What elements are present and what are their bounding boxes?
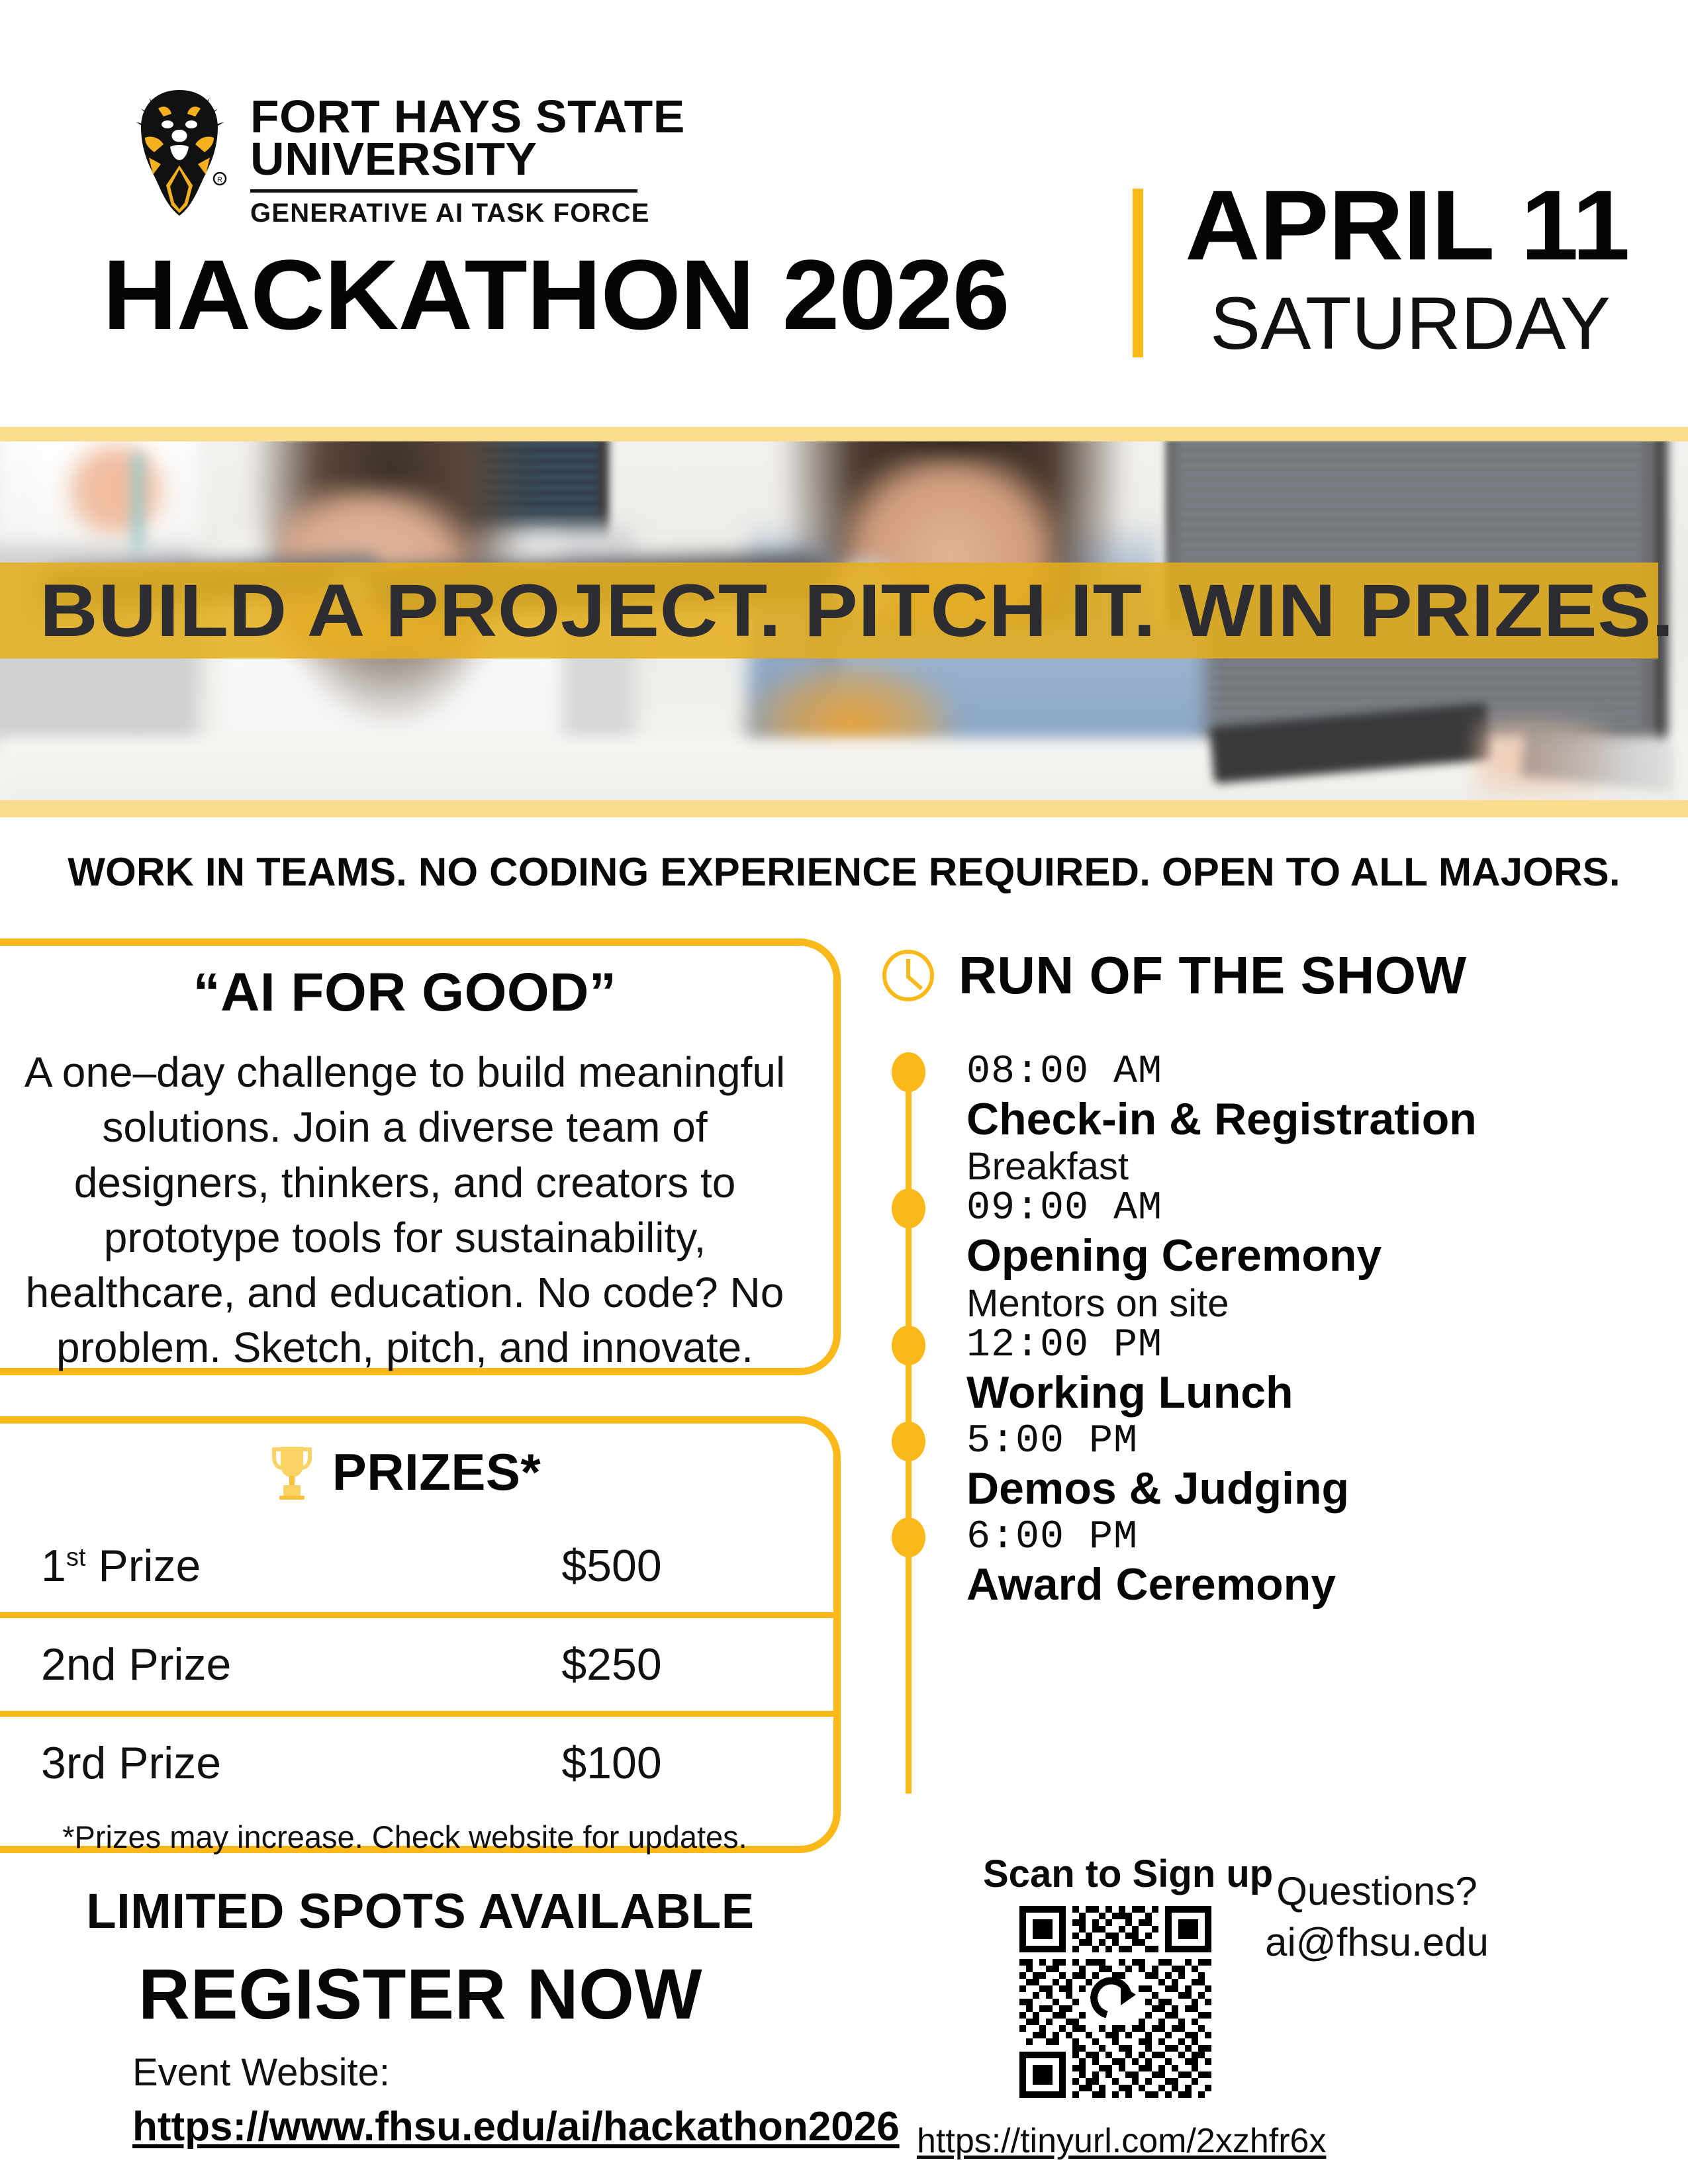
schedule-item-time: 08:00 AM <box>966 1052 1675 1093</box>
schedule-item-time: 6:00 PM <box>966 1518 1675 1558</box>
schedule-item: 09:00 AMOpening CeremonyMentors on site <box>880 1189 1675 1325</box>
timeline-dot <box>892 1518 925 1557</box>
timeline-dot <box>892 1326 925 1365</box>
trophy-icon <box>269 1444 315 1501</box>
prize-label: 3rd Prize <box>41 1737 502 1789</box>
schedule-item-title: Award Ceremony <box>966 1559 1675 1610</box>
page-title: HACKATHON 2026 <box>103 245 1009 344</box>
schedule-title: RUN OF THE SHOW <box>959 945 1466 1006</box>
event-date-block: APRIL 11 SATURDAY <box>1185 175 1609 361</box>
tagline-text: BUILD A PROJECT. PITCH IT. WIN PRIZES. <box>40 569 1688 652</box>
timeline-dot <box>892 1189 925 1228</box>
timeline-dot <box>892 1422 925 1461</box>
prizes-footnote: *Prizes may increase. Check website for … <box>0 1819 833 1855</box>
prizes-title: PRIZES* <box>332 1442 541 1502</box>
prize-row: 1st Prize$500 <box>0 1520 833 1612</box>
register-now-heading: REGISTER NOW <box>0 1952 841 2035</box>
prizes-card: PRIZES* 1st Prize$5002nd Prize$2503rd Pr… <box>0 1416 841 1853</box>
prizes-header: PRIZES* <box>0 1424 833 1502</box>
schedule-item: 12:00 PMWorking Lunch <box>880 1326 1675 1422</box>
ai-for-good-body: A one–day challenge to build meaningful … <box>23 1045 787 1375</box>
university-line-1: FORT HAYS STATE <box>250 95 685 138</box>
schedule-header: RUN OF THE SHOW <box>880 945 1466 1006</box>
event-website-label: Event Website: <box>132 2050 390 2095</box>
ai-for-good-title: “AI FOR GOOD” <box>23 963 787 1023</box>
qr-url-link[interactable]: https://tinyurl.com/2xzhfr6x <box>917 2121 1326 2161</box>
schedule-item-title: Check-in & Registration <box>966 1094 1675 1144</box>
event-date: APRIL 11 <box>1185 175 1630 275</box>
taskforce-label: GENERATIVE AI TASK FORCE <box>250 199 677 228</box>
schedule-item-time: 5:00 PM <box>966 1422 1675 1462</box>
photo-bottom-border <box>0 800 1688 817</box>
schedule-item-title: Opening Ceremony <box>966 1230 1675 1281</box>
date-divider-bar <box>1133 189 1143 357</box>
schedule-item-title: Working Lunch <box>966 1367 1675 1418</box>
photo-top-border <box>0 427 1688 441</box>
contact-block: Questions? ai@fhsu.edu <box>1265 1866 1489 1968</box>
prize-label: 2nd Prize <box>41 1639 502 1690</box>
tiger-head-logo-icon: R <box>129 86 232 218</box>
schedule-item-note: Mentors on site <box>966 1283 1675 1326</box>
schedule-item-time: 12:00 PM <box>966 1326 1675 1366</box>
ai-for-good-card: “AI FOR GOOD” A one–day challenge to bui… <box>0 938 841 1375</box>
logo-divider-rule <box>250 189 637 193</box>
subheadline: WORK IN TEAMS. NO CODING EXPERIENCE REQU… <box>0 849 1688 895</box>
prize-row: 3rd Prize$100 <box>0 1711 833 1809</box>
hero-photo-banner: BUILD A PROJECT. PITCH IT. WIN PRIZES. <box>0 427 1688 817</box>
scan-to-signup-label: Scan to Sign up <box>983 1852 1273 1896</box>
event-weekday: SATURDAY <box>1210 287 1617 361</box>
svg-text:R: R <box>217 176 222 184</box>
schedule-item: 5:00 PMDemos & Judging <box>880 1422 1675 1518</box>
prize-label: 1st Prize <box>41 1540 502 1592</box>
contact-email: ai@fhsu.edu <box>1265 1917 1489 1968</box>
logo-wordmark: FORT HAYS STATE UNIVERSITY GENERATIVE AI… <box>250 86 677 228</box>
prize-amount: $100 <box>502 1737 721 1789</box>
event-website-link[interactable]: https://www.fhsu.edu/ai/hackathon2026 <box>132 2103 900 2150</box>
prizes-table: 1st Prize$5002nd Prize$2503rd Prize$100 <box>0 1520 833 1809</box>
university-line-2: UNIVERSITY <box>250 138 685 180</box>
schedule-item-note: Breakfast <box>966 1146 1675 1189</box>
prize-amount: $250 <box>502 1639 721 1690</box>
schedule-item-time: 09:00 AM <box>966 1189 1675 1229</box>
prize-amount: $500 <box>502 1540 721 1592</box>
schedule-timeline: 08:00 AMCheck-in & RegistrationBreakfast… <box>880 1052 1675 1614</box>
clock-icon <box>880 948 936 1003</box>
qr-code[interactable] <box>1019 1906 1211 2098</box>
schedule-item: 6:00 PMAward Ceremony <box>880 1518 1675 1614</box>
prize-row: 2nd Prize$250 <box>0 1612 833 1711</box>
schedule-item: 08:00 AMCheck-in & RegistrationBreakfast <box>880 1052 1675 1189</box>
poster-header: R FORT HAYS STATE UNIVERSITY GENERATIVE … <box>0 0 1688 427</box>
contact-question-label: Questions? <box>1265 1866 1489 1917</box>
limited-spots-text: LIMITED SPOTS AVAILABLE <box>0 1883 841 1939</box>
fhsu-logo-block: R FORT HAYS STATE UNIVERSITY GENERATIVE … <box>129 86 677 228</box>
timeline-dot <box>892 1052 925 1092</box>
schedule-item-title: Demos & Judging <box>966 1463 1675 1514</box>
